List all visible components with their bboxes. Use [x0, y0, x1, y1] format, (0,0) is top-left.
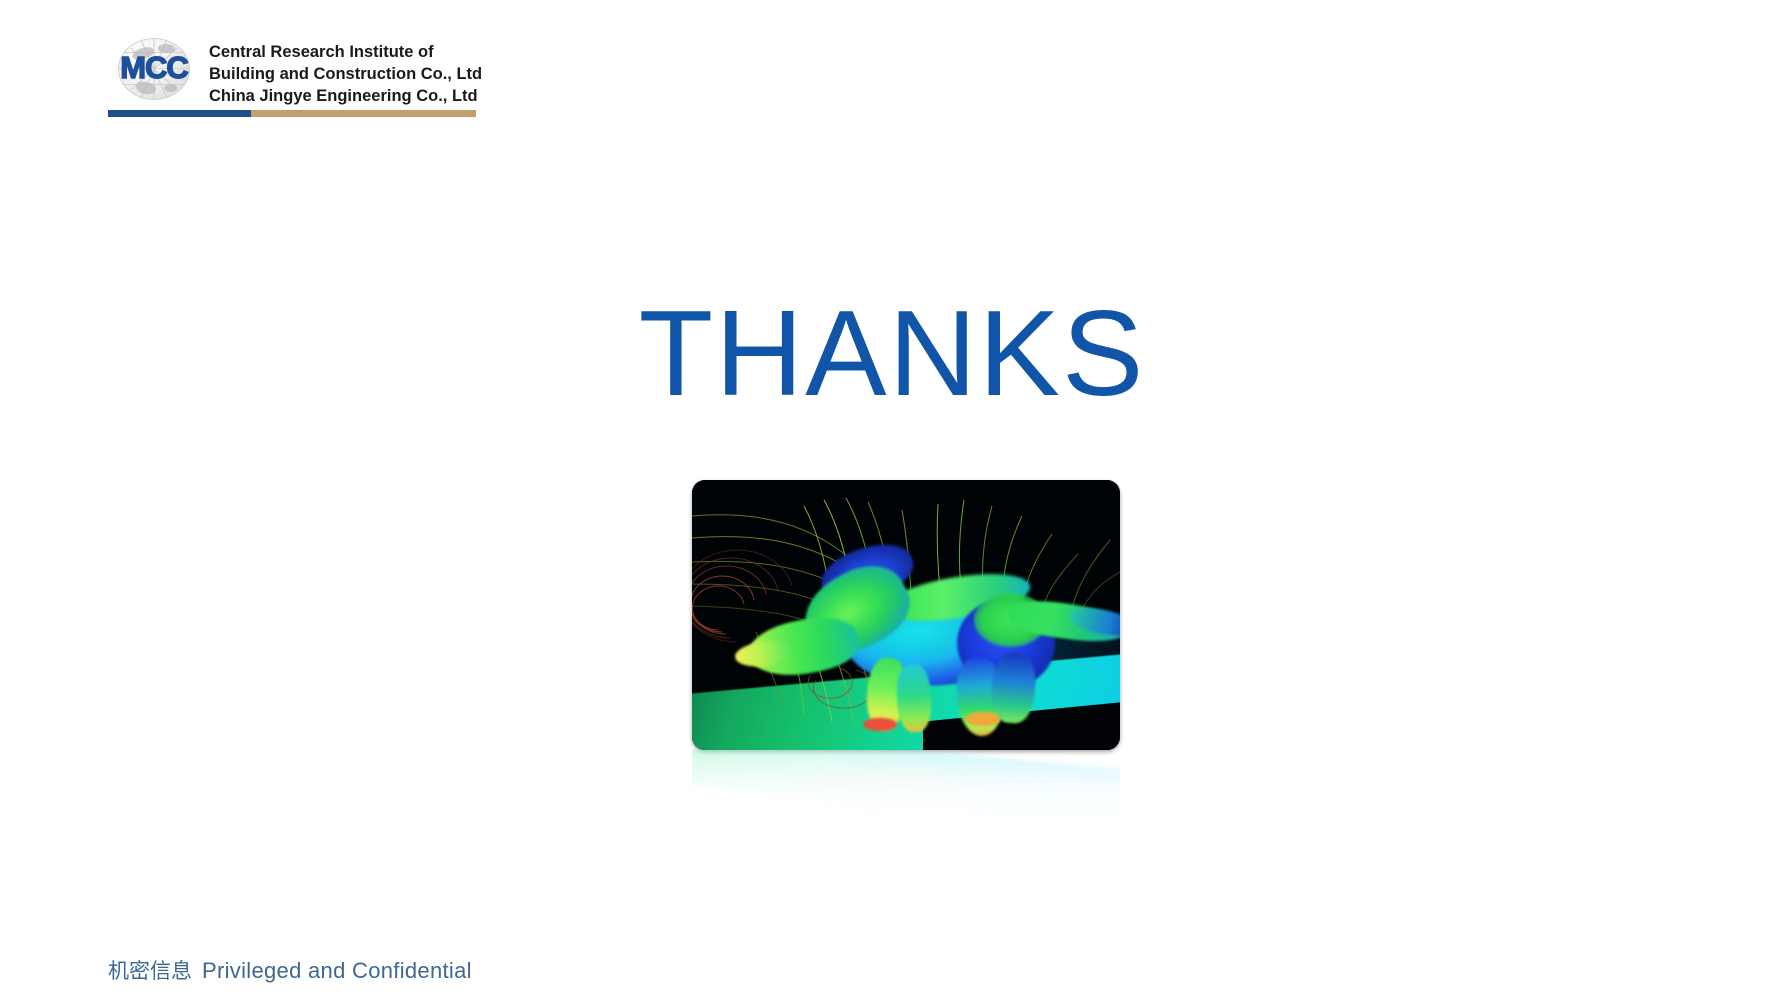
mcc-wordmark: MCC: [108, 52, 200, 83]
slide-title: THANKS: [0, 292, 1792, 414]
footer-text-cn: 机密信息: [108, 955, 192, 985]
footer-text-en: Privileged and Confidential: [202, 958, 472, 984]
simulation-image-frame: [692, 480, 1120, 750]
slide-title-text: THANKS: [639, 292, 1146, 414]
logo-line-1: Central Research Institute of: [209, 42, 482, 64]
logo-rule-tan-segment: [251, 110, 476, 117]
simulation-image-reflection: [692, 750, 1120, 842]
confidentiality-footer: 机密信息 Privileged and Confidential: [108, 955, 472, 985]
slide-canvas: MCC Central Research Institute of Buildi…: [0, 0, 1792, 1008]
logo-rule-blue-segment: [108, 110, 251, 117]
logo-line-2: Building and Construction Co., Ltd: [209, 64, 482, 86]
logo-divider-rule: [108, 110, 476, 117]
logo-line-3: China Jingye Engineering Co., Ltd: [209, 86, 482, 108]
mcc-logo-mark: MCC: [108, 38, 200, 100]
dinosaur-model: [692, 480, 1120, 750]
logo-company-lines: Central Research Institute of Building a…: [209, 38, 482, 108]
simulation-image: [692, 480, 1120, 750]
